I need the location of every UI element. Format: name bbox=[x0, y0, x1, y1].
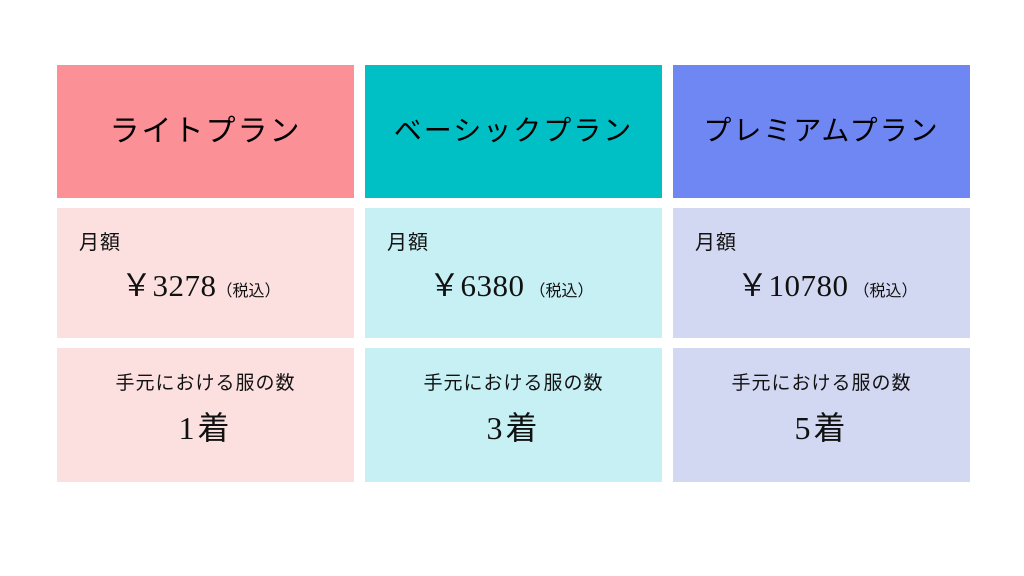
price-amount: ￥10780 bbox=[737, 268, 849, 303]
plan-name-label: プレミアムプラン bbox=[703, 118, 939, 146]
price-label: 月額 bbox=[387, 232, 662, 254]
plan-header-premium[interactable]: プレミアムプラン bbox=[673, 65, 970, 198]
price-tax-note: （税込） bbox=[217, 283, 281, 300]
clothes-label: 手元における服の数 bbox=[57, 374, 354, 395]
price-block: 月額 ￥3278（税込） bbox=[57, 208, 354, 305]
plan-header-light[interactable]: ライトプラン bbox=[57, 65, 354, 198]
price-line: ￥10780（税込） bbox=[695, 260, 970, 305]
clothes-value: 3着 bbox=[365, 411, 662, 446]
clothes-label: 手元における服の数 bbox=[365, 374, 662, 395]
price-line: ￥3278（税込） bbox=[79, 260, 354, 305]
price-tax-note: （税込） bbox=[530, 283, 594, 300]
price-line: ￥6380（税込） bbox=[387, 260, 662, 305]
price-label: 月額 bbox=[695, 232, 970, 254]
plan-name-label: ベーシックプラン bbox=[394, 118, 633, 146]
clothes-block: 手元における服の数 5着 bbox=[673, 348, 970, 446]
clothes-cell-premium: 手元における服の数 5着 bbox=[673, 348, 970, 482]
clothes-block: 手元における服の数 3着 bbox=[365, 348, 662, 446]
price-cell-premium: 月額 ￥10780（税込） bbox=[673, 208, 970, 338]
clothes-cell-basic: 手元における服の数 3着 bbox=[365, 348, 662, 482]
price-block: 月額 ￥6380（税込） bbox=[365, 208, 662, 305]
clothes-cell-light: 手元における服の数 1着 bbox=[57, 348, 354, 482]
price-amount: ￥3278 bbox=[121, 268, 217, 303]
price-cell-basic: 月額 ￥6380（税込） bbox=[365, 208, 662, 338]
pricing-plan-table: ライトプラン ベーシックプラン プレミアムプラン 月額 ￥3278（税込） 月額… bbox=[57, 65, 970, 482]
plan-header-basic[interactable]: ベーシックプラン bbox=[365, 65, 662, 198]
price-cell-light: 月額 ￥3278（税込） bbox=[57, 208, 354, 338]
price-tax-note: （税込） bbox=[854, 283, 918, 300]
clothes-value: 1着 bbox=[57, 411, 354, 446]
price-block: 月額 ￥10780（税込） bbox=[673, 208, 970, 305]
clothes-label: 手元における服の数 bbox=[673, 374, 970, 395]
plan-name-label: ライトプラン bbox=[110, 117, 302, 147]
clothes-value: 5着 bbox=[673, 411, 970, 446]
price-amount: ￥6380 bbox=[429, 268, 525, 303]
price-label: 月額 bbox=[79, 232, 354, 254]
clothes-block: 手元における服の数 1着 bbox=[57, 348, 354, 446]
